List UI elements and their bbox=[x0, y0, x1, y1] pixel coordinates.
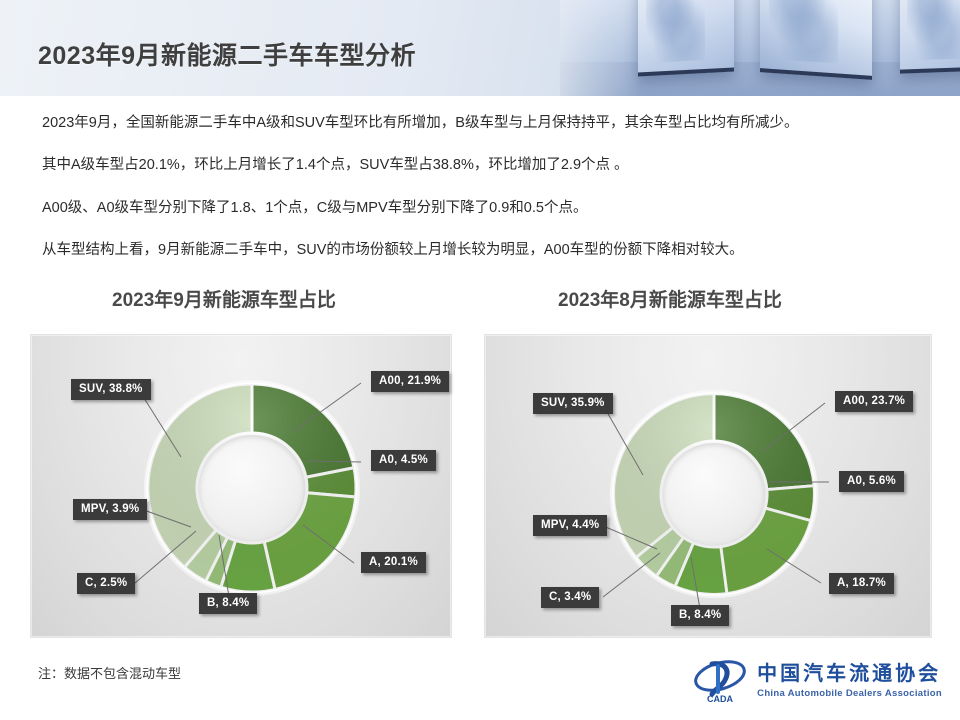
cada-logo-text: 中国汽车流通协会 China Automobile Dealers Associ… bbox=[757, 664, 942, 699]
callout-b-august: B, 8.4% bbox=[671, 605, 729, 626]
decorative-cube-3 bbox=[900, 0, 960, 74]
page-title: 2023年9月新能源二手车车型分析 bbox=[38, 36, 416, 72]
callout-suv-august: SUV, 35.9% bbox=[533, 393, 613, 414]
summary-paragraph-1: 2023年9月，全国新能源二手车中A级和SUV车型环比有所增加，B级车型与上月保… bbox=[42, 112, 922, 134]
callout-c-september: C, 2.5% bbox=[77, 573, 135, 594]
chart-panel-august: A00, 23.7% A0, 5.6% A, 18.7% B, 8.4% C, … bbox=[484, 334, 932, 638]
world-map-texture-icon bbox=[907, 0, 960, 60]
page-header: 2023年9月新能源二手车车型分析 bbox=[0, 0, 960, 96]
callout-a00-august: A00, 23.7% bbox=[835, 391, 913, 412]
summary-paragraph-4: 从车型结构上看，9月新能源二手车中，SUV的市场份额较上月增长较为明显，A00车… bbox=[42, 239, 922, 261]
donut-chart-august bbox=[603, 383, 825, 605]
callout-mpv-september: MPV, 3.9% bbox=[73, 499, 147, 520]
donut-svg-september bbox=[137, 373, 367, 603]
callout-b-september: B, 8.4% bbox=[199, 593, 257, 614]
callout-a-august: A, 18.7% bbox=[829, 573, 894, 594]
cada-logo: CADA 中国汽车流通协会 China Automobile Dealers A… bbox=[692, 652, 942, 710]
chart-title-september: 2023年9月新能源车型占比 bbox=[112, 285, 336, 312]
callout-a-september: A, 20.1% bbox=[361, 552, 426, 573]
decorative-cube-1 bbox=[638, 0, 734, 77]
cada-logo-en: China Automobile Dealers Association bbox=[757, 689, 942, 699]
donut-svg-august bbox=[603, 383, 825, 605]
callout-suv-september: SUV, 38.8% bbox=[71, 379, 151, 400]
world-map-texture-icon bbox=[646, 0, 706, 63]
callout-a00-september: A00, 21.9% bbox=[371, 371, 449, 392]
world-map-texture-icon bbox=[769, 0, 838, 64]
callout-c-august: C, 3.4% bbox=[541, 587, 599, 608]
cada-emblem-icon: CADA bbox=[692, 656, 748, 706]
summary-paragraph-2: 其中A级车型占20.1%，环比上月增长了1.4个点，SUV车型占38.8%，环比… bbox=[42, 154, 922, 176]
footnote: 注：数据不包含混动车型 bbox=[38, 663, 181, 682]
callout-a0-september: A0, 4.5% bbox=[371, 450, 436, 471]
svg-text:CADA: CADA bbox=[707, 694, 733, 704]
chart-panel-september: A00, 21.9% A0, 4.5% A, 20.1% B, 8.4% C, … bbox=[30, 334, 452, 638]
decorative-cube-2 bbox=[760, 0, 872, 80]
header-decoration-cubes bbox=[560, 0, 960, 96]
donut-chart-september bbox=[137, 373, 367, 603]
cada-logo-cn: 中国汽车流通协会 bbox=[757, 664, 942, 684]
chart-title-august: 2023年8月新能源车型占比 bbox=[558, 285, 782, 312]
callout-a0-august: A0, 5.6% bbox=[839, 471, 904, 492]
summary-paragraph-3: A00级、A0级车型分别下降了1.8、1个点，C级与MPV车型分别下降了0.9和… bbox=[42, 197, 922, 219]
callout-mpv-august: MPV, 4.4% bbox=[533, 515, 607, 536]
summary-text-block: 2023年9月，全国新能源二手车中A级和SUV车型环比有所增加，B级车型与上月保… bbox=[42, 112, 922, 282]
